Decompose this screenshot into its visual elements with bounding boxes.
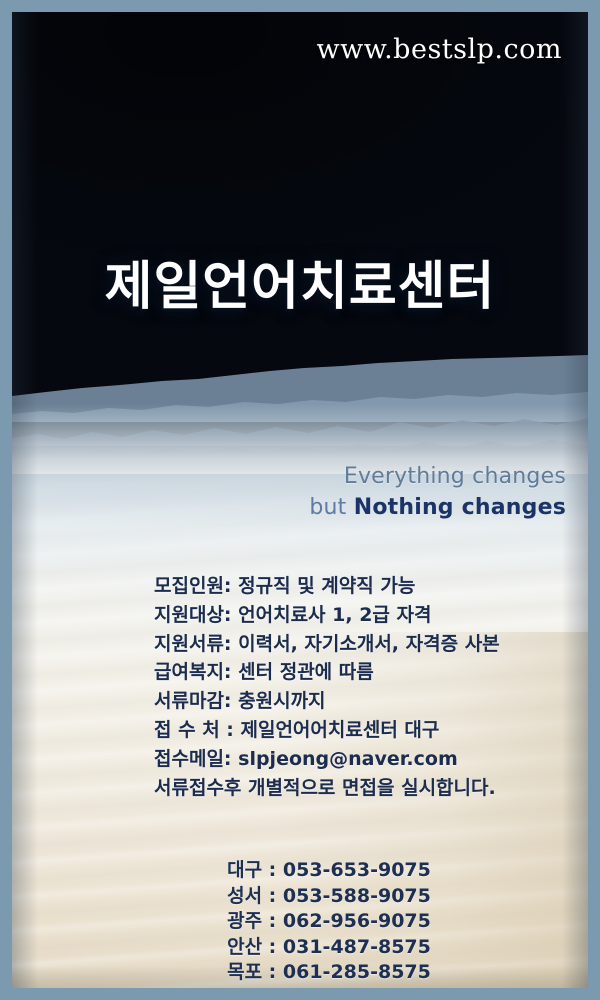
phone-row-seongseo: 성서 : 053-588-9075 — [70, 884, 588, 910]
phone-row-gwangju: 광주 : 062-956-9075 — [70, 909, 588, 935]
detail-row: 지원대상: 언어치료사 1, 2급 자격 — [154, 601, 500, 630]
site-url-text: www.bestslp.com — [316, 34, 562, 65]
detail-row: 지원서류: 이력서, 자기소개서, 자격증 사본 — [154, 630, 500, 659]
phone-row-mokpo: 목포 : 061-285-8575 — [70, 960, 588, 986]
job-details-list: 모집인원: 정규직 및 계약직 가능 지원대상: 언어치료사 1, 2급 자격 … — [154, 572, 500, 802]
phone-row-daegu: 대구 : 053-653-9075 — [70, 858, 588, 884]
contact-phone-list: 대구 : 053-653-9075 성서 : 053-588-9075 광주 :… — [12, 858, 588, 986]
tagline-line-2: but Nothing changes — [309, 495, 566, 522]
tagline-strong-phrase: Nothing changes — [354, 495, 566, 520]
detail-row: 급여복지: 센터 정관에 따름 — [154, 658, 500, 687]
detail-row: 서류마감: 충원시까지 — [154, 687, 500, 716]
detail-row: 모집인원: 정규직 및 계약직 가능 — [154, 572, 500, 601]
phone-row-ansan: 안산 : 031-487-8575 — [70, 935, 588, 961]
poster-frame: www.bestslp.com 제일언어치료센터 Everything chan… — [0, 0, 600, 1000]
detail-row-email: 접수메일: slpjeong@naver.com — [154, 745, 500, 774]
detail-row: 접 수 처 : 제일언어어치료센터 대구 — [154, 716, 500, 745]
page-title: 제일언어치료센터 — [12, 244, 588, 319]
tagline-block: Everything changes but Nothing changes — [309, 464, 566, 522]
tagline-line-1: Everything changes — [309, 464, 566, 491]
tagline-but-word: but — [309, 495, 353, 520]
detail-row: 서류접수후 개별적으로 면접을 실시합니다. — [154, 774, 500, 803]
poster-photo: www.bestslp.com 제일언어치료센터 Everything chan… — [12, 12, 588, 988]
